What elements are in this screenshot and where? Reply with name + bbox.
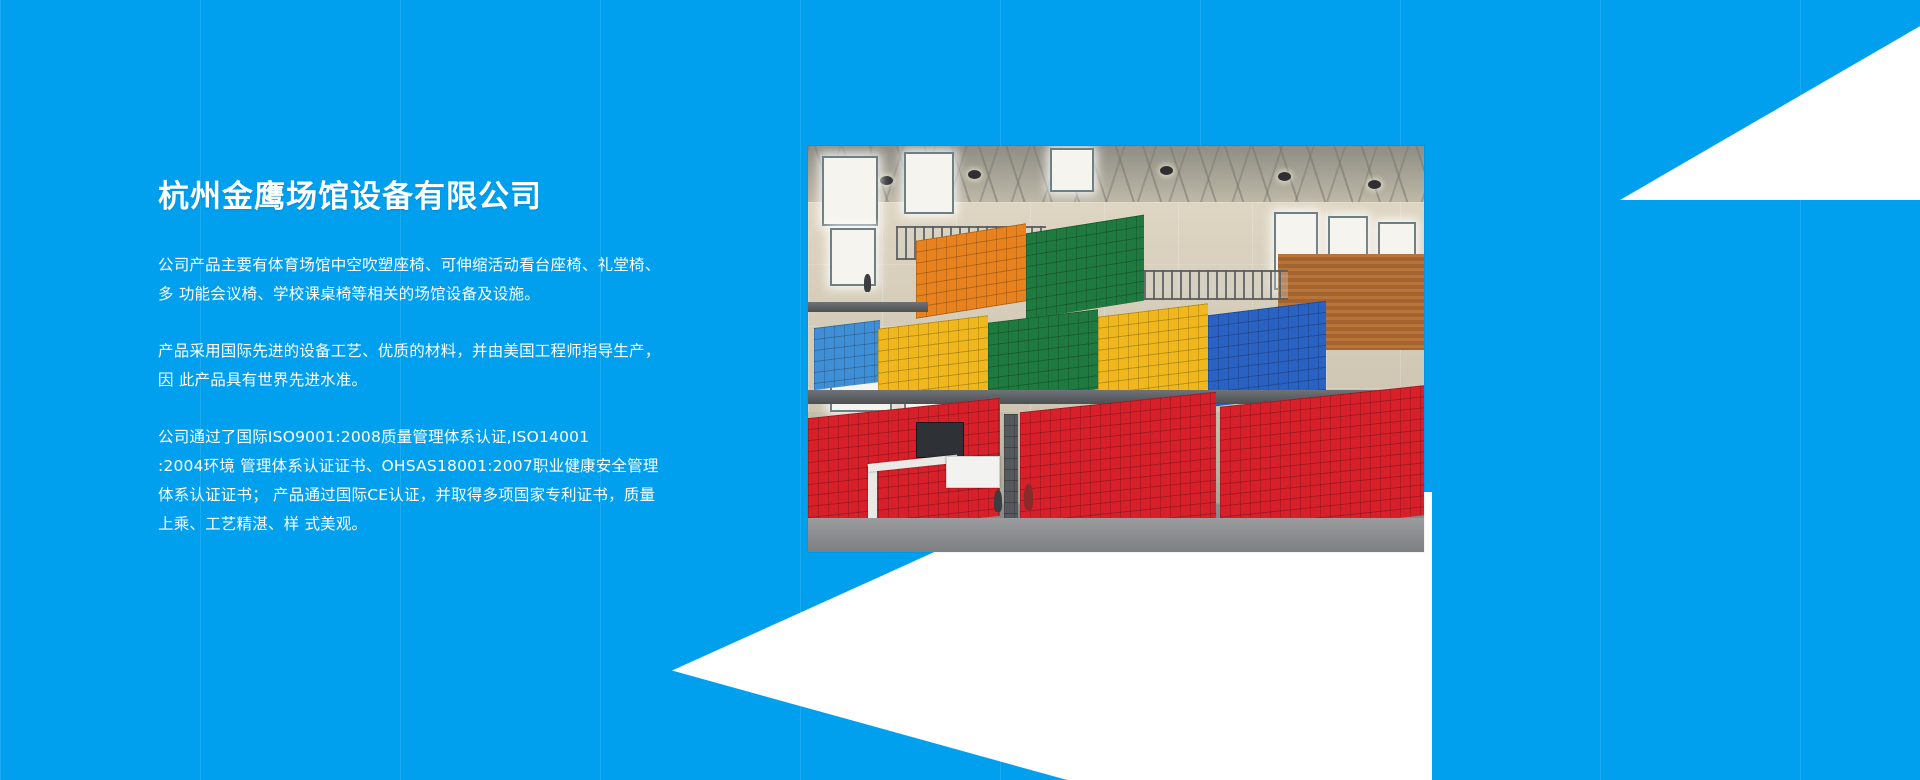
ceiling-lamp-icon xyxy=(1278,172,1291,181)
person-figure xyxy=(994,490,1002,512)
page-title: 杭州金鹰场馆设备有限公司 xyxy=(158,178,668,217)
seating-bank-green xyxy=(988,309,1098,403)
window xyxy=(1050,148,1094,192)
control-box xyxy=(916,422,964,458)
window xyxy=(822,156,878,226)
paragraph-certification-line-1: 公司通过了国际ISO9001:2008质量管理体系认证,ISO14001 xyxy=(158,428,589,446)
ceiling-lamp-icon xyxy=(1160,166,1173,175)
window xyxy=(904,152,954,214)
seating-bank-yellow xyxy=(1098,303,1208,403)
paragraph-certification-line-5: 式美观。 xyxy=(304,515,367,533)
seating-bank-divider xyxy=(1004,414,1018,526)
walkway-deck xyxy=(808,302,928,312)
basketball-backboard xyxy=(946,456,1000,488)
hero-banner: 杭州金鹰场馆设备有限公司 公司产品主要有体育场馆中空吹塑座椅、可伸缩活动看台座椅… xyxy=(0,0,1920,780)
intro-text-column: 杭州金鹰场馆设备有限公司 公司产品主要有体育场馆中空吹塑座椅、可伸缩活动看台座椅… xyxy=(158,178,668,539)
paragraph-products: 公司产品主要有体育场馆中空吹塑座椅、可伸缩活动看台座椅、礼堂椅、多 功能会议椅、… xyxy=(158,251,668,309)
ceiling-lamp-icon xyxy=(880,176,893,185)
paragraph-technology: 产品采用国际先进的设备工艺、优质的材料，并由美国工程师指导生产，因 此产品具有世… xyxy=(158,337,668,395)
arena-floor xyxy=(808,518,1424,552)
paragraph-certification-line-2: :2004环境 xyxy=(158,457,235,475)
ceiling-lamp-icon xyxy=(968,170,981,179)
person-figure xyxy=(1024,484,1033,510)
gymnasium-photo xyxy=(808,146,1424,552)
ceiling-lamp-icon xyxy=(1368,180,1381,189)
seating-bank-red xyxy=(1020,392,1216,539)
paragraph-certification: 公司通过了国际ISO9001:2008质量管理体系认证,ISO14001:200… xyxy=(158,423,668,539)
seating-bank-light-blue xyxy=(814,320,880,390)
paragraph-technology-line-2: 此产品具有世界先进水准。 xyxy=(179,371,367,389)
person-figure xyxy=(864,274,871,292)
gymnasium-photo-image xyxy=(808,146,1424,552)
seating-bank-red xyxy=(1220,385,1424,536)
paragraph-products-line-2: 功能会议椅、学校课桌椅等相关的场馆设备及设施。 xyxy=(179,285,540,303)
